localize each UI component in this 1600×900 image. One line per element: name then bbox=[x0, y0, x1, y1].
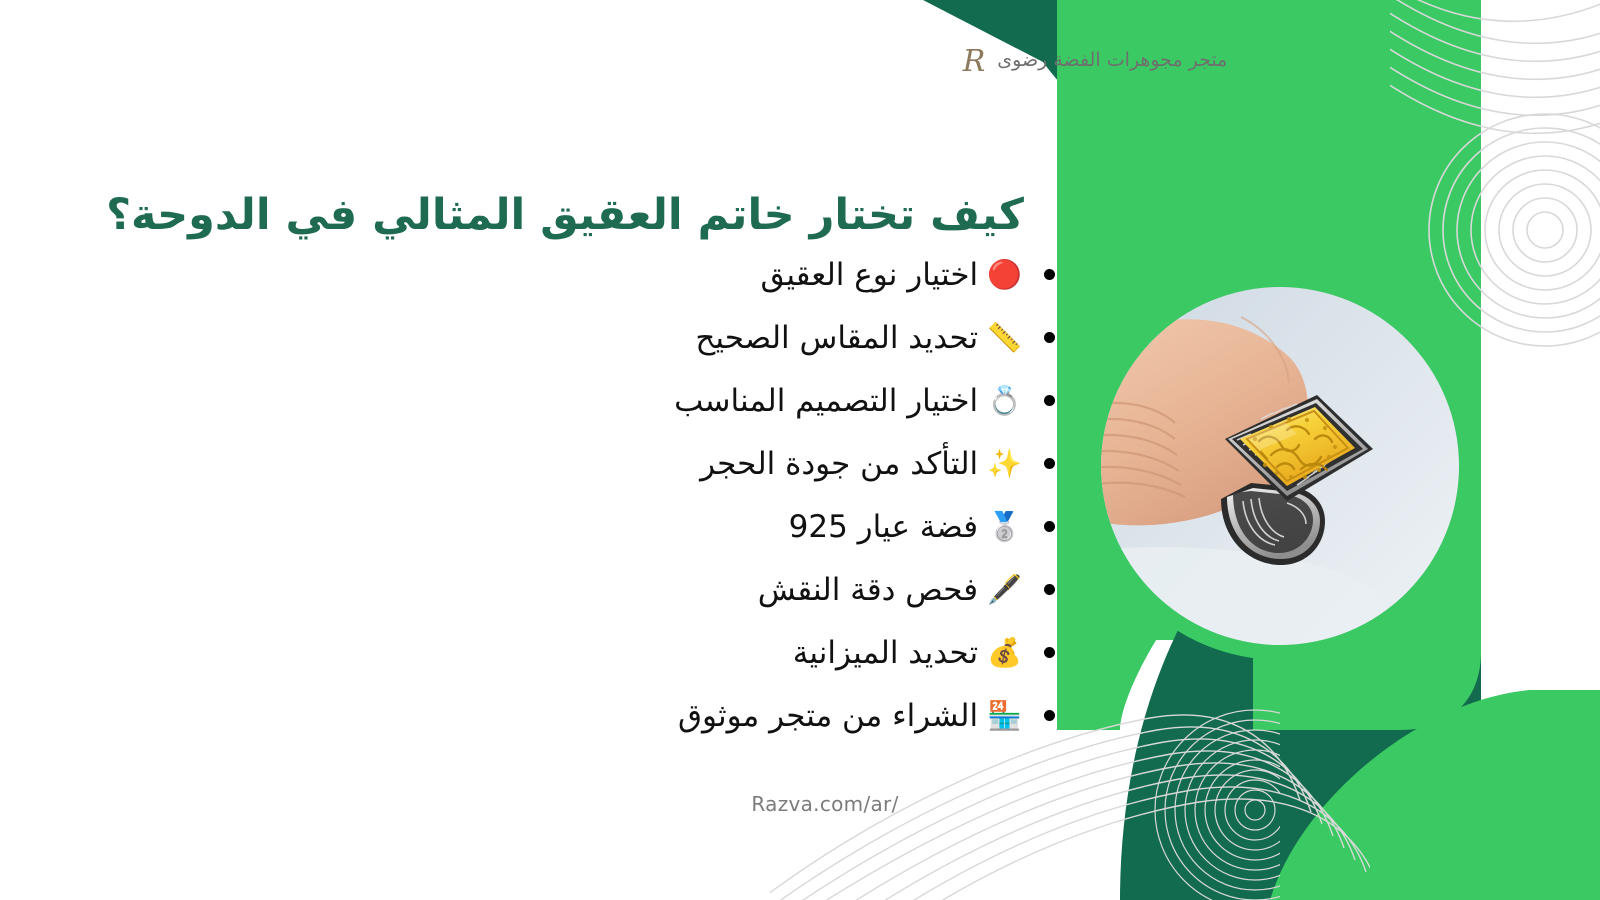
list-item-label: تحديد الميزانية bbox=[793, 635, 978, 671]
script-r-logo-icon: R bbox=[963, 47, 986, 77]
list-item: 🖋️فحص دقة النقش bbox=[625, 558, 1055, 621]
bullet-dot-icon bbox=[1044, 710, 1055, 721]
fountain-pen-icon: 🖋️ bbox=[987, 576, 1022, 604]
bullet-dot-icon bbox=[1044, 458, 1055, 469]
bullet-dot-icon bbox=[1044, 395, 1055, 406]
list-item: 🔴اختيار نوع العقيق bbox=[625, 243, 1055, 306]
list-item-label: اختيار التصميم المناسب bbox=[674, 383, 978, 419]
list-item-label: اختيار نوع العقيق bbox=[760, 257, 978, 293]
infographic-canvas: متجر مجوهرات الفضة رضوى R كيف تختار خاتم… bbox=[0, 0, 1600, 900]
bright-green-corner-shape bbox=[1270, 690, 1600, 900]
bullet-dot-icon bbox=[1044, 584, 1055, 595]
website-url[interactable]: Razva.com/ar/ bbox=[610, 792, 1040, 816]
ring-icon: 💍 bbox=[987, 387, 1022, 415]
bullet-dot-icon bbox=[1044, 521, 1055, 532]
list-item-label: فحص دقة النقش bbox=[758, 572, 978, 608]
list-item-label: التأكد من جودة الحجر bbox=[700, 446, 978, 482]
sparkles-icon: ✨ bbox=[987, 450, 1022, 478]
convenience-store-icon: 🏪 bbox=[987, 702, 1022, 730]
list-item: 💍اختيار التصميم المناسب bbox=[625, 369, 1055, 432]
money-bag-icon: 💰 bbox=[987, 639, 1022, 667]
bullet-dot-icon bbox=[1044, 332, 1055, 343]
list-item: 💰تحديد الميزانية bbox=[625, 621, 1055, 684]
list-item-label: فضة عيار 925 bbox=[789, 509, 978, 545]
list-item: 📏تحديد المقاس الصحيح bbox=[625, 306, 1055, 369]
silver-medal-icon: 🥈 bbox=[987, 513, 1022, 541]
red-circle-icon: 🔴 bbox=[987, 261, 1022, 289]
straight-ruler-icon: 📏 bbox=[987, 324, 1022, 352]
bullet-dot-icon bbox=[1044, 269, 1055, 280]
bullet-dot-icon bbox=[1044, 647, 1055, 658]
list-item-label: الشراء من متجر موثوق bbox=[678, 698, 978, 734]
list-item: ✨التأكد من جودة الحجر bbox=[625, 432, 1055, 495]
white-notch-shape bbox=[1055, 640, 1253, 900]
tips-list: 🔴اختيار نوع العقيق📏تحديد المقاس الصحيح💍ا… bbox=[625, 243, 1055, 747]
small-concentric-circle-pattern bbox=[1155, 710, 1355, 900]
list-item: 🥈فضة عيار 925 bbox=[625, 495, 1055, 558]
brand-header: متجر مجوهرات الفضة رضوى R bbox=[590, 45, 1600, 75]
list-item-label: تحديد المقاس الصحيح bbox=[695, 320, 978, 356]
brand-name: متجر مجوهرات الفضة رضوى bbox=[997, 49, 1227, 71]
list-item: 🏪الشراء من متجر موثوق bbox=[625, 684, 1055, 747]
dark-green-wedge-shape bbox=[923, 0, 1253, 176]
product-photo bbox=[1101, 287, 1459, 645]
page-title: كيف تختار خاتم العقيق المثالي في الدوحة؟ bbox=[90, 189, 1040, 243]
